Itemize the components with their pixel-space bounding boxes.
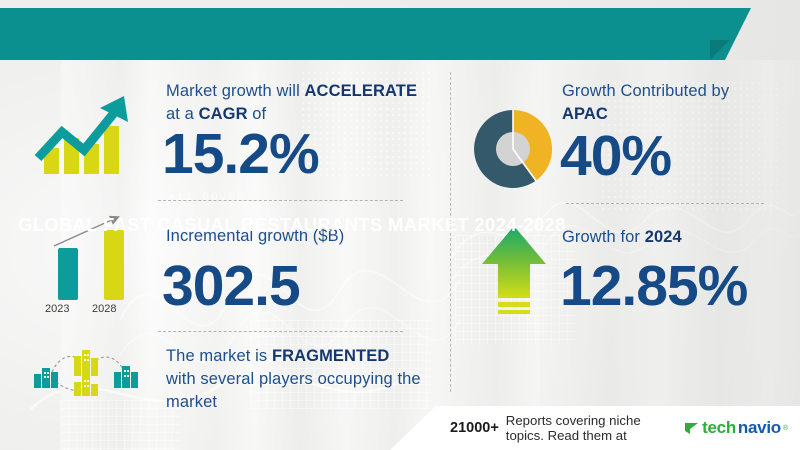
connected-buildings-icon (26, 342, 148, 404)
left-divider-2 (158, 331, 403, 332)
up-arrow-icon (478, 222, 550, 320)
header-banner-fold-shadow (710, 40, 730, 60)
growth-2024-label-emphasis: 2024 (645, 228, 682, 246)
cagr-lede-emphasis: ACCELERATE (305, 82, 418, 100)
left-divider-1 (158, 200, 403, 201)
footer: 21000+ Reports covering niche topics. Re… (390, 406, 800, 450)
fragmentation-line2: with several players occupying the (166, 370, 421, 388)
cagr-lede-emphasis2: CAGR (199, 105, 248, 123)
incremental-value: 302.5 (162, 258, 300, 315)
technavio-logo[interactable]: technavio® (684, 418, 788, 438)
cagr-lede-part1: Market growth will (166, 82, 305, 100)
logo-text-navio: navio (738, 418, 781, 438)
cagr-value: 15.2% (162, 126, 319, 183)
footer-tagline: Reports covering niche topics. Read them… (506, 413, 677, 443)
page-title: GLOBAL FAST CASUAL RESTAURANTS MARKET 20… (18, 214, 566, 236)
infographic-root: +11 00.00 00 11 00 11 GLOBAL FAST CASUAL… (0, 0, 800, 450)
right-divider-1 (566, 203, 764, 204)
bar-label-2028: 2028 (92, 303, 116, 315)
growth-2024-label-part1: Growth for (562, 228, 645, 246)
fragmentation-line1-part1: The market is (166, 347, 272, 365)
donut-chart-icon (470, 106, 556, 192)
technavio-flag-icon (684, 420, 700, 436)
bar-label-2023: 2023 (45, 303, 69, 315)
footer-report-count: 21000+ (450, 420, 499, 436)
growth-chart-icon (28, 82, 140, 180)
cagr-lede-part3: of (248, 105, 267, 123)
cagr-lede-part2: at a (166, 105, 199, 123)
header-banner (0, 8, 725, 60)
fragmentation-line1-emphasis: FRAGMENTED (272, 347, 389, 365)
apac-label-emphasis: APAC (562, 105, 608, 123)
cagr-lede: Market growth will ACCELERATE at a CAGR … (166, 80, 436, 126)
apac-label-part1: Growth Contributed by (562, 82, 729, 100)
logo-trademark: ® (783, 425, 788, 432)
apac-value: 40% (560, 128, 671, 185)
growth-2024-label: Growth for 2024 (562, 226, 792, 249)
background-right-shade (540, 0, 800, 450)
logo-text-tech: tech (702, 418, 736, 438)
fragmentation-line3: market (166, 393, 217, 411)
fragmentation-text: The market is FRAGMENTED with several pl… (166, 345, 446, 413)
apac-label: Growth Contributed by APAC (562, 80, 792, 126)
growth-2024-value: 12.85% (560, 258, 747, 315)
